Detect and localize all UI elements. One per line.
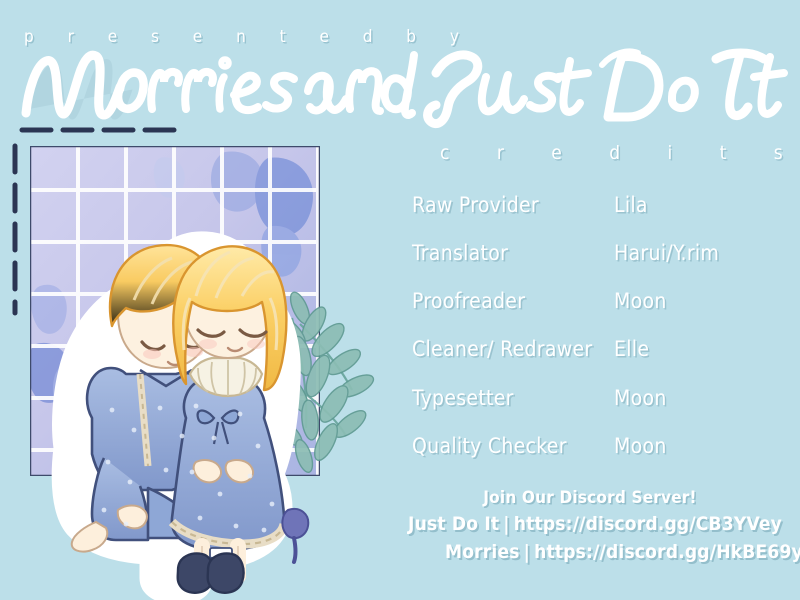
- credit-row: Cleaner/ Redrawer Elle: [412, 337, 792, 367]
- title-script-art: Morries and Just Do It: [16, 47, 786, 125]
- discord-block: Join Our Discord Server! Just Do It|http…: [390, 488, 790, 569]
- credit-label: Proofreader: [412, 289, 525, 313]
- discord-join-heading: Join Our Discord Server!: [390, 488, 790, 508]
- ornament: [282, 509, 308, 538]
- credit-label: Cleaner/ Redrawer: [412, 337, 592, 361]
- credit-row: Proofreader Moon: [412, 289, 792, 319]
- credit-row: Quality Checker Moon: [412, 434, 792, 464]
- discord-invite-link[interactable]: https://discord.gg/CB3YVey: [514, 513, 782, 535]
- credits-heading: c r e d i t s: [440, 142, 800, 164]
- credits-page: p r e s e n t e d b y Morries and Just D…: [0, 0, 800, 600]
- separator: |: [520, 541, 534, 563]
- discord-server-row[interactable]: Just Do It|https://discord.gg/CB3YVey: [390, 513, 790, 535]
- illustration-art: [0, 118, 400, 600]
- credit-label: Quality Checker: [412, 434, 567, 458]
- credit-value: Moon: [614, 289, 667, 313]
- credit-row: Translator Harui/Y.rim: [412, 241, 792, 271]
- separator: |: [499, 513, 513, 535]
- presented-by-label: p r e s e n t e d b y: [24, 27, 473, 47]
- series-title: Morries and Just Do It: [16, 47, 786, 125]
- discord-server-name: Just Do It: [408, 513, 499, 535]
- discord-server-row[interactable]: Morries|https://discord.gg/HkBE69y: [390, 541, 790, 563]
- credit-value: Harui/Y.rim: [614, 241, 719, 265]
- credit-value: Moon: [614, 386, 667, 410]
- discord-invite-link[interactable]: https://discord.gg/HkBE69y: [534, 541, 800, 563]
- credit-row: Typesetter Moon: [412, 386, 792, 416]
- discord-server-name: Morries: [445, 541, 520, 563]
- credit-label: Typesetter: [412, 386, 514, 410]
- credit-value: Moon: [614, 434, 667, 458]
- cover-illustration: [0, 118, 400, 600]
- credit-row: Raw Provider Lila: [412, 193, 792, 223]
- credit-label: Translator: [412, 241, 508, 265]
- credit-value: Lila: [614, 193, 648, 217]
- credit-value: Elle: [614, 337, 649, 361]
- credit-label: Raw Provider: [412, 193, 539, 217]
